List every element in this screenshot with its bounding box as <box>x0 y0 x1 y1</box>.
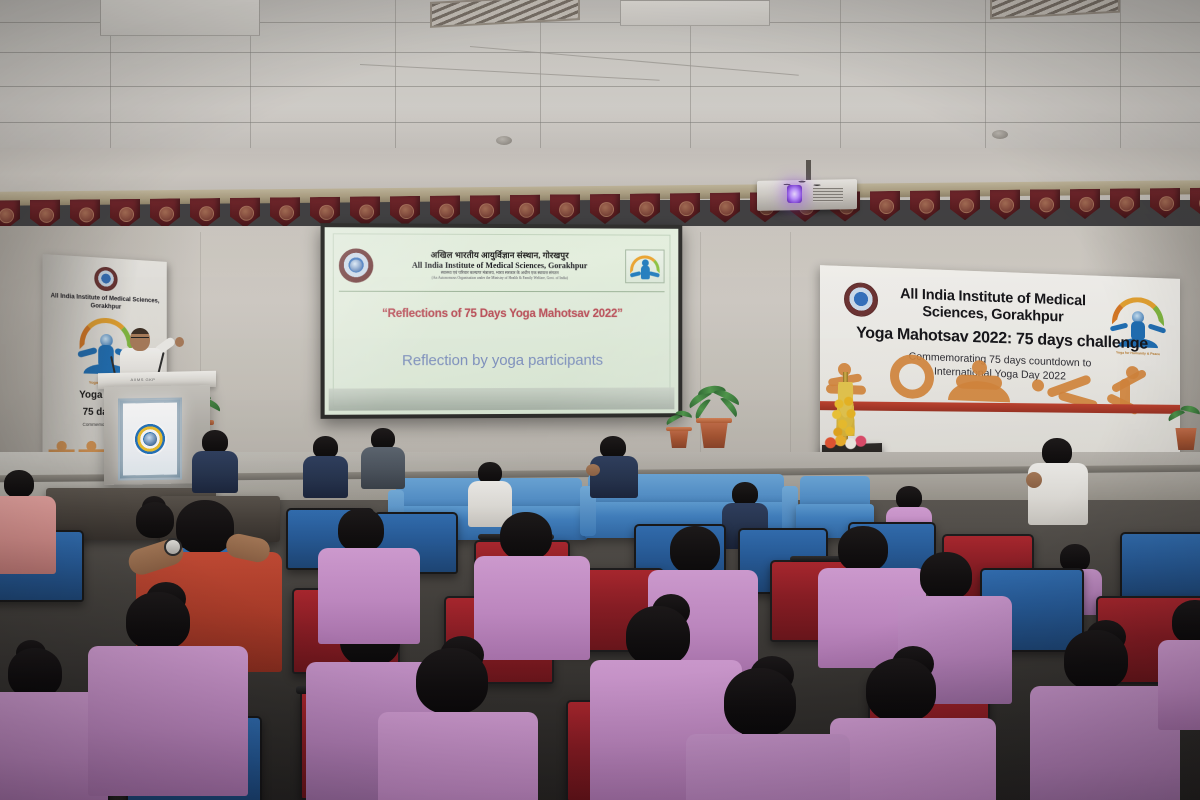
auditorium-photo: अखिल भारतीय आयुर्विज्ञान संस्थान, गोरखपु… <box>0 0 1200 800</box>
podium-lightbox <box>123 403 177 476</box>
potted-palm-right <box>1168 404 1200 432</box>
banner-left-institute: All India Institute of Medical Sciences,… <box>42 292 166 313</box>
chair <box>1120 532 1200 602</box>
projector-lens-icon <box>787 185 802 203</box>
podium-top-label: AIIMS GKP <box>118 377 168 382</box>
aiims-podium-logo-icon <box>133 422 167 457</box>
slide-title-line: “Reflections of 75 Days Yoga Mahotsav 20… <box>325 308 679 320</box>
flower-decorations <box>824 434 870 450</box>
slide-surface: अखिल भारतीय आयुर्विज्ञान संस्थान, गोरखपु… <box>325 227 679 415</box>
smoke-detector <box>496 136 512 145</box>
aiims-emblem-icon <box>339 248 373 282</box>
slide-header: अखिल भारतीय आयुर्विज्ञान संस्थान, गोरखपु… <box>339 239 665 292</box>
smoke-detector-2 <box>992 130 1008 139</box>
ac-vent-right <box>430 0 580 28</box>
banner-right-emblem-icon <box>844 282 878 317</box>
ceiling <box>0 0 1200 152</box>
yoga-day-logo-icon <box>625 249 664 283</box>
banner-right-yoga-figures <box>820 365 1180 441</box>
slide-english-title: All India Institute of Medical Sciences,… <box>379 260 619 270</box>
slide-sub-english: (An Autonomous Organisation under the Mi… <box>379 276 619 281</box>
presenter <box>118 328 164 376</box>
wristwatch-icon <box>164 538 182 556</box>
projection-screen: अखिल भारतीय आयुर्विज्ञान संस्थान, गोरखपु… <box>321 223 683 419</box>
banner-right-institute: All India Institute of Medical Sciences,… <box>880 285 1106 328</box>
ac-vent-far <box>990 0 1120 19</box>
projector-vent <box>813 188 843 202</box>
slide-subtitle-line: Reflection by yoga participants <box>325 352 679 370</box>
banner-left-emblem-icon <box>94 266 117 291</box>
